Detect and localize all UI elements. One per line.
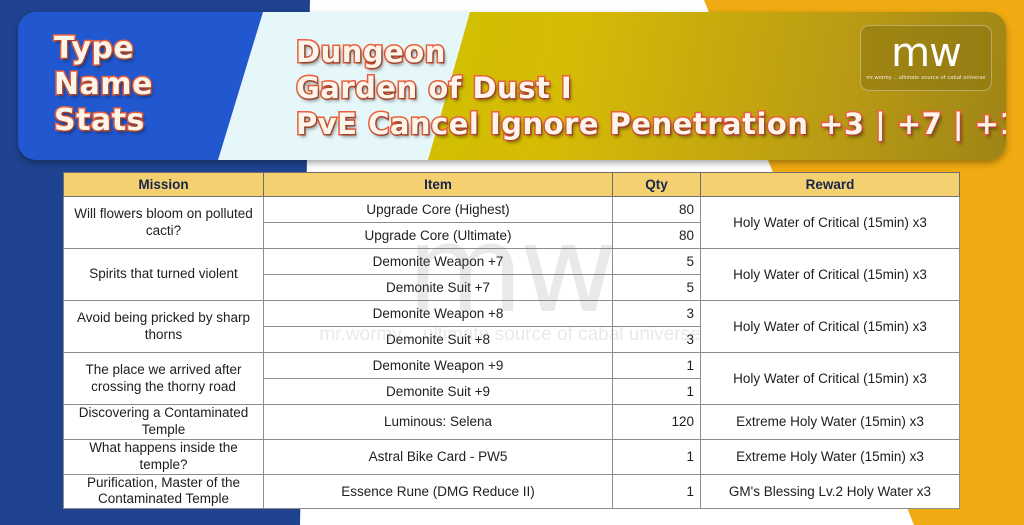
cell-qty: 3 [613, 327, 701, 353]
table-body: Will flowers bloom on polluted cacti?Upg… [64, 197, 960, 509]
table-row: Avoid being pricked by sharp thornsDemon… [64, 301, 960, 327]
cell-mission: Avoid being pricked by sharp thorns [64, 301, 264, 353]
table-row: The place we arrived after crossing the … [64, 353, 960, 379]
cell-reward: GM's Blessing Lv.2 Holy Water x3 [701, 474, 960, 509]
cell-item: Demonite Weapon +8 [264, 301, 613, 327]
banner-field-labels: Type Name Stats [54, 34, 153, 142]
cell-mission: Will flowers bloom on polluted cacti? [64, 197, 264, 249]
cell-qty: 5 [613, 249, 701, 275]
cell-reward: Extreme Holy Water (15min) x3 [701, 405, 960, 440]
table-row: Purification, Master of the Contaminated… [64, 474, 960, 509]
cell-qty: 1 [613, 474, 701, 509]
cell-mission: What happens inside the temple? [64, 439, 264, 474]
column-header-qty: Qty [613, 173, 701, 197]
loot-table-container: Mission Item Qty Reward Will flowers blo… [63, 172, 959, 509]
cell-qty: 1 [613, 353, 701, 379]
cell-mission: Discovering a Contaminated Temple [64, 405, 264, 440]
cell-reward: Holy Water of Critical (15min) x3 [701, 249, 960, 301]
cell-qty: 3 [613, 301, 701, 327]
cell-item: Essence Rune (DMG Reduce II) [264, 474, 613, 509]
cell-qty: 1 [613, 379, 701, 405]
column-header-reward: Reward [701, 173, 960, 197]
cell-item: Demonite Weapon +7 [264, 249, 613, 275]
cell-item: Demonite Suit +8 [264, 327, 613, 353]
label-name: Name [54, 70, 153, 100]
cell-item: Upgrade Core (Ultimate) [264, 223, 613, 249]
brand-logo: mw mr.wormy .. ultimate source of cabal … [860, 25, 992, 91]
cell-reward: Holy Water of Critical (15min) x3 [701, 197, 960, 249]
screenshot-root: Type Name Stats Dungeon Garden of Dust I… [0, 0, 1024, 525]
cell-qty: 5 [613, 275, 701, 301]
table-row: Will flowers bloom on polluted cacti?Upg… [64, 197, 960, 223]
table-row: Spirits that turned violentDemonite Weap… [64, 249, 960, 275]
table-header-row: Mission Item Qty Reward [64, 173, 960, 197]
value-stats: PvE Cancel Ignore Penetration +3 | +7 | … [296, 110, 1006, 139]
cell-item: Demonite Suit +9 [264, 379, 613, 405]
cell-item: Demonite Weapon +9 [264, 353, 613, 379]
logo-mark-icon: mw [891, 35, 961, 72]
column-header-item: Item [264, 173, 613, 197]
cell-item: Astral Bike Card - PW5 [264, 439, 613, 474]
cell-item: Luminous: Selena [264, 405, 613, 440]
cell-reward: Holy Water of Critical (15min) x3 [701, 301, 960, 353]
cell-mission: Purification, Master of the Contaminated… [64, 474, 264, 509]
cell-item: Upgrade Core (Highest) [264, 197, 613, 223]
cell-qty: 80 [613, 197, 701, 223]
cell-item: Demonite Suit +7 [264, 275, 613, 301]
header-banner: Type Name Stats Dungeon Garden of Dust I… [18, 12, 1006, 160]
cell-qty: 120 [613, 405, 701, 440]
label-stats: Stats [54, 106, 153, 136]
cell-mission: The place we arrived after crossing the … [64, 353, 264, 405]
label-type: Type [54, 34, 153, 64]
table-row: Discovering a Contaminated TempleLuminou… [64, 405, 960, 440]
cell-reward: Extreme Holy Water (15min) x3 [701, 439, 960, 474]
cell-mission: Spirits that turned violent [64, 249, 264, 301]
cell-qty: 1 [613, 439, 701, 474]
logo-tagline: mr.wormy .. ultimate source of cabal uni… [866, 75, 985, 81]
cell-reward: Holy Water of Critical (15min) x3 [701, 353, 960, 405]
loot-table: Mission Item Qty Reward Will flowers blo… [63, 172, 960, 509]
cell-qty: 80 [613, 223, 701, 249]
column-header-mission: Mission [64, 173, 264, 197]
table-row: What happens inside the temple?Astral Bi… [64, 439, 960, 474]
